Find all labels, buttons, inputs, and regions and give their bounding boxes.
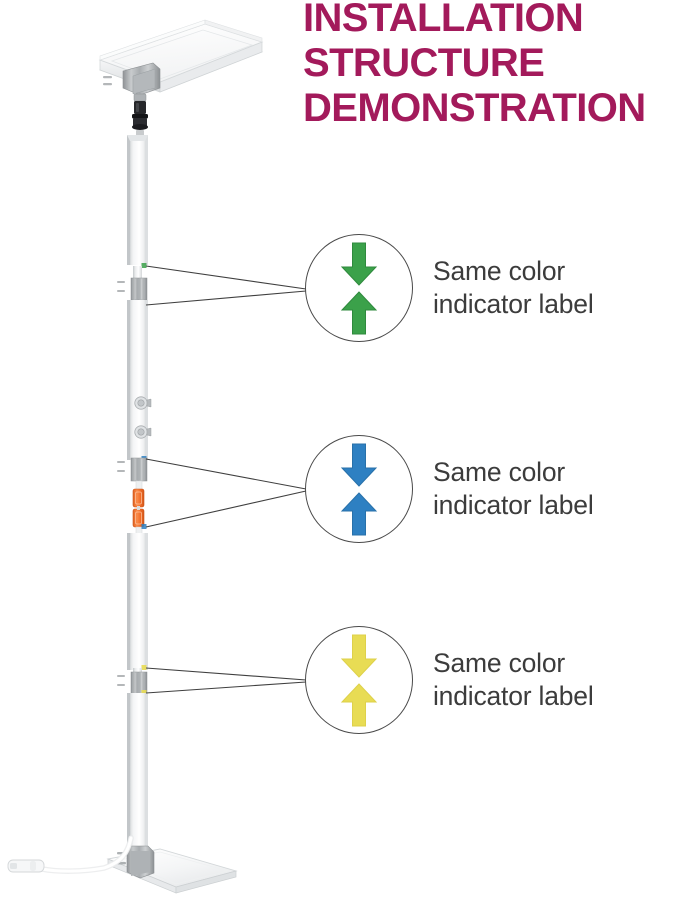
callout-text-blue: Same color indicator label xyxy=(433,456,594,522)
arrow-pair-green xyxy=(305,234,413,342)
callout-yellow-line-1: Same color xyxy=(433,647,594,680)
callout-blue-line-2: indicator label xyxy=(433,489,594,522)
pole-segment-lower-upper xyxy=(127,533,148,670)
pole-joint-blue xyxy=(117,456,147,535)
joint-green-screws xyxy=(117,281,125,292)
pole-segment-upper xyxy=(127,135,148,265)
title-line-3: DEMONSTRATION xyxy=(303,86,679,131)
callout-blue-line-1: Same color xyxy=(433,456,594,489)
callout-green-line-2: indicator label xyxy=(433,288,594,321)
title-line-2: STRUCTURE xyxy=(303,41,679,86)
arrow-pair-blue xyxy=(305,435,413,543)
callout-text-yellow: Same color indicator label xyxy=(433,647,594,713)
head-bracket-screws xyxy=(103,76,112,85)
arrow-up-icon xyxy=(339,491,379,537)
knob-upper xyxy=(135,397,151,409)
arrow-down-icon xyxy=(339,241,379,287)
orange-wire-connectors xyxy=(133,489,144,527)
joint-blue-screws xyxy=(117,461,125,472)
callout-green-line-1: Same color xyxy=(433,255,594,288)
arrow-up-icon xyxy=(339,290,379,336)
lamp-illustration xyxy=(0,0,300,918)
arrow-down-icon xyxy=(339,442,379,488)
callout-text-green: Same color indicator label xyxy=(433,255,594,321)
yellow-indicator-upper xyxy=(142,665,147,670)
knob-lower xyxy=(135,426,151,438)
callout-yellow-line-2: indicator label xyxy=(433,680,594,713)
title-line-1: INSTALLATION xyxy=(303,0,679,41)
poster-canvas: INSTALLATION STRUCTURE DEMONSTRATION xyxy=(0,0,679,918)
arrow-down-icon xyxy=(339,633,379,679)
arrow-pair-yellow xyxy=(305,626,413,734)
pole-joint-green xyxy=(117,263,147,306)
black-pole-connector xyxy=(132,101,148,137)
page-title: INSTALLATION STRUCTURE DEMONSTRATION xyxy=(303,0,679,131)
power-plug xyxy=(8,860,44,872)
blue-indicator-lower xyxy=(142,524,147,529)
joint-yellow-screws xyxy=(117,675,125,686)
arrow-up-icon xyxy=(339,682,379,728)
green-indicator-upper xyxy=(142,263,147,268)
